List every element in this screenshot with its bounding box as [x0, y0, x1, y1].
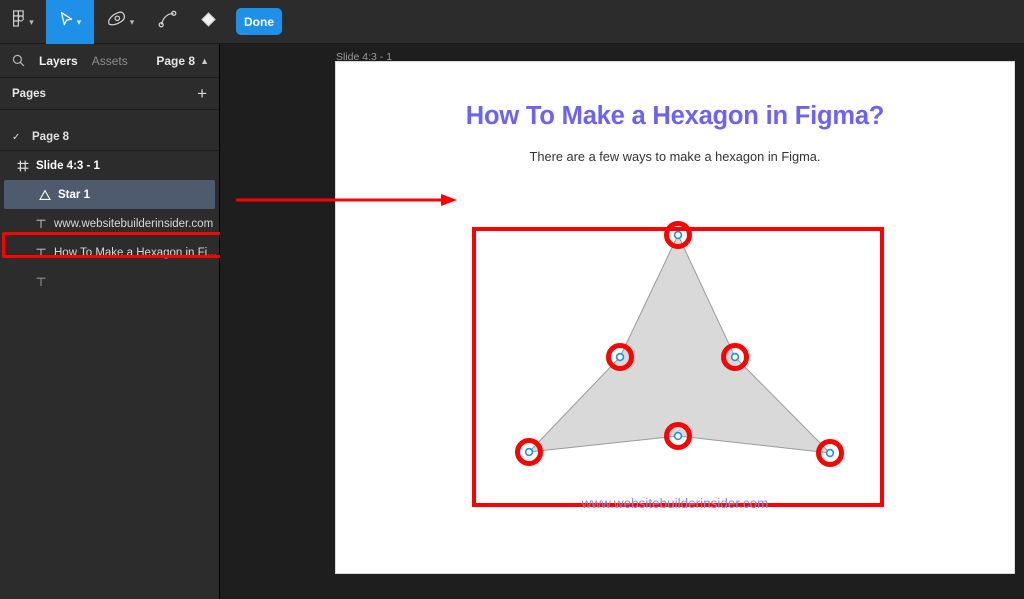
- layer-label: Star 1: [58, 189, 90, 201]
- tab-layers[interactable]: Layers: [39, 54, 78, 68]
- slide-title: How To Make a Hexagon in Figma?: [336, 102, 1014, 131]
- vertex-handle-bottom-left[interactable]: [518, 441, 541, 464]
- done-button[interactable]: Done: [236, 8, 282, 35]
- plus-icon[interactable]: +: [197, 85, 207, 102]
- bezier-tool-button[interactable]: [148, 0, 188, 44]
- star-shape-container[interactable]: [472, 209, 884, 489]
- star-shape-svg[interactable]: [472, 209, 884, 489]
- layer-row-heading-text[interactable]: How To Make a Hexagon in Fi...: [0, 238, 219, 267]
- vertex-handle-bottom-right[interactable]: [819, 442, 842, 465]
- star-path[interactable]: [529, 235, 830, 453]
- panel-tab-bar: Layers Assets Page 8 ▲: [0, 44, 219, 78]
- pen-icon: [108, 10, 127, 34]
- layer-row-empty-text[interactable]: [0, 267, 219, 296]
- left-sidebar: Layers Assets Page 8 ▲ Pages + ✓ Page 8: [0, 44, 220, 599]
- checkmark-icon: ✓: [12, 132, 32, 143]
- move-tool-button[interactable]: ▾: [46, 0, 94, 44]
- chevron-up-icon: ▲: [200, 56, 209, 66]
- layer-label: Slide 4:3 - 1: [36, 160, 100, 172]
- tab-assets[interactable]: Assets: [92, 54, 128, 68]
- bezier-curve-icon: [158, 9, 178, 34]
- figma-menu-button[interactable]: ▾: [0, 0, 46, 44]
- chevron-down-icon: ▾: [130, 18, 135, 27]
- pages-title: Pages: [12, 88, 46, 100]
- text-icon: [28, 247, 54, 259]
- chevron-down-icon: ▾: [29, 18, 34, 27]
- canvas-area[interactable]: Slide 4:3 - 1 How To Make a Hexagon in F…: [220, 44, 1024, 599]
- layer-label: How To Make a Hexagon in Fi...: [54, 247, 217, 259]
- shape-tool-button[interactable]: [188, 0, 228, 44]
- chevron-down-icon: ▾: [77, 18, 82, 27]
- page-row-partial[interactable]: [0, 110, 219, 124]
- figma-app-window: ▾ ▾ ▾: [0, 0, 1024, 599]
- slide-subtitle: There are a few ways to make a hexagon i…: [336, 149, 1014, 164]
- polygon-icon: [32, 189, 58, 201]
- pages-header: Pages +: [0, 78, 219, 110]
- page-selector[interactable]: Page 8 ▲: [156, 44, 209, 78]
- page-row-page-8[interactable]: ✓ Page 8: [0, 124, 219, 150]
- text-icon: [28, 218, 54, 230]
- layer-row-star-1[interactable]: Star 1: [4, 180, 215, 209]
- layer-label: www.websitebuilderinsider.com: [54, 218, 213, 230]
- slide-frame[interactable]: How To Make a Hexagon in Figma? There ar…: [336, 62, 1014, 573]
- pen-tool-button[interactable]: ▾: [94, 0, 148, 44]
- search-icon[interactable]: [12, 54, 25, 67]
- page-label: Page 8: [32, 131, 69, 143]
- text-icon: [28, 276, 54, 288]
- slide-footer-url: www.websitebuilderinsider.com: [336, 496, 1014, 511]
- cursor-arrow-icon: [59, 11, 74, 32]
- layer-row-url-text[interactable]: www.websitebuilderinsider.com: [0, 209, 219, 238]
- figma-logo-icon: [12, 10, 26, 33]
- frame-icon: [10, 160, 36, 172]
- top-toolbar: ▾ ▾ ▾: [0, 0, 1024, 44]
- page-selector-label: Page 8: [156, 54, 195, 68]
- layer-row-slide[interactable]: Slide 4:3 - 1: [0, 151, 219, 180]
- diamond-shape-icon: [199, 10, 218, 34]
